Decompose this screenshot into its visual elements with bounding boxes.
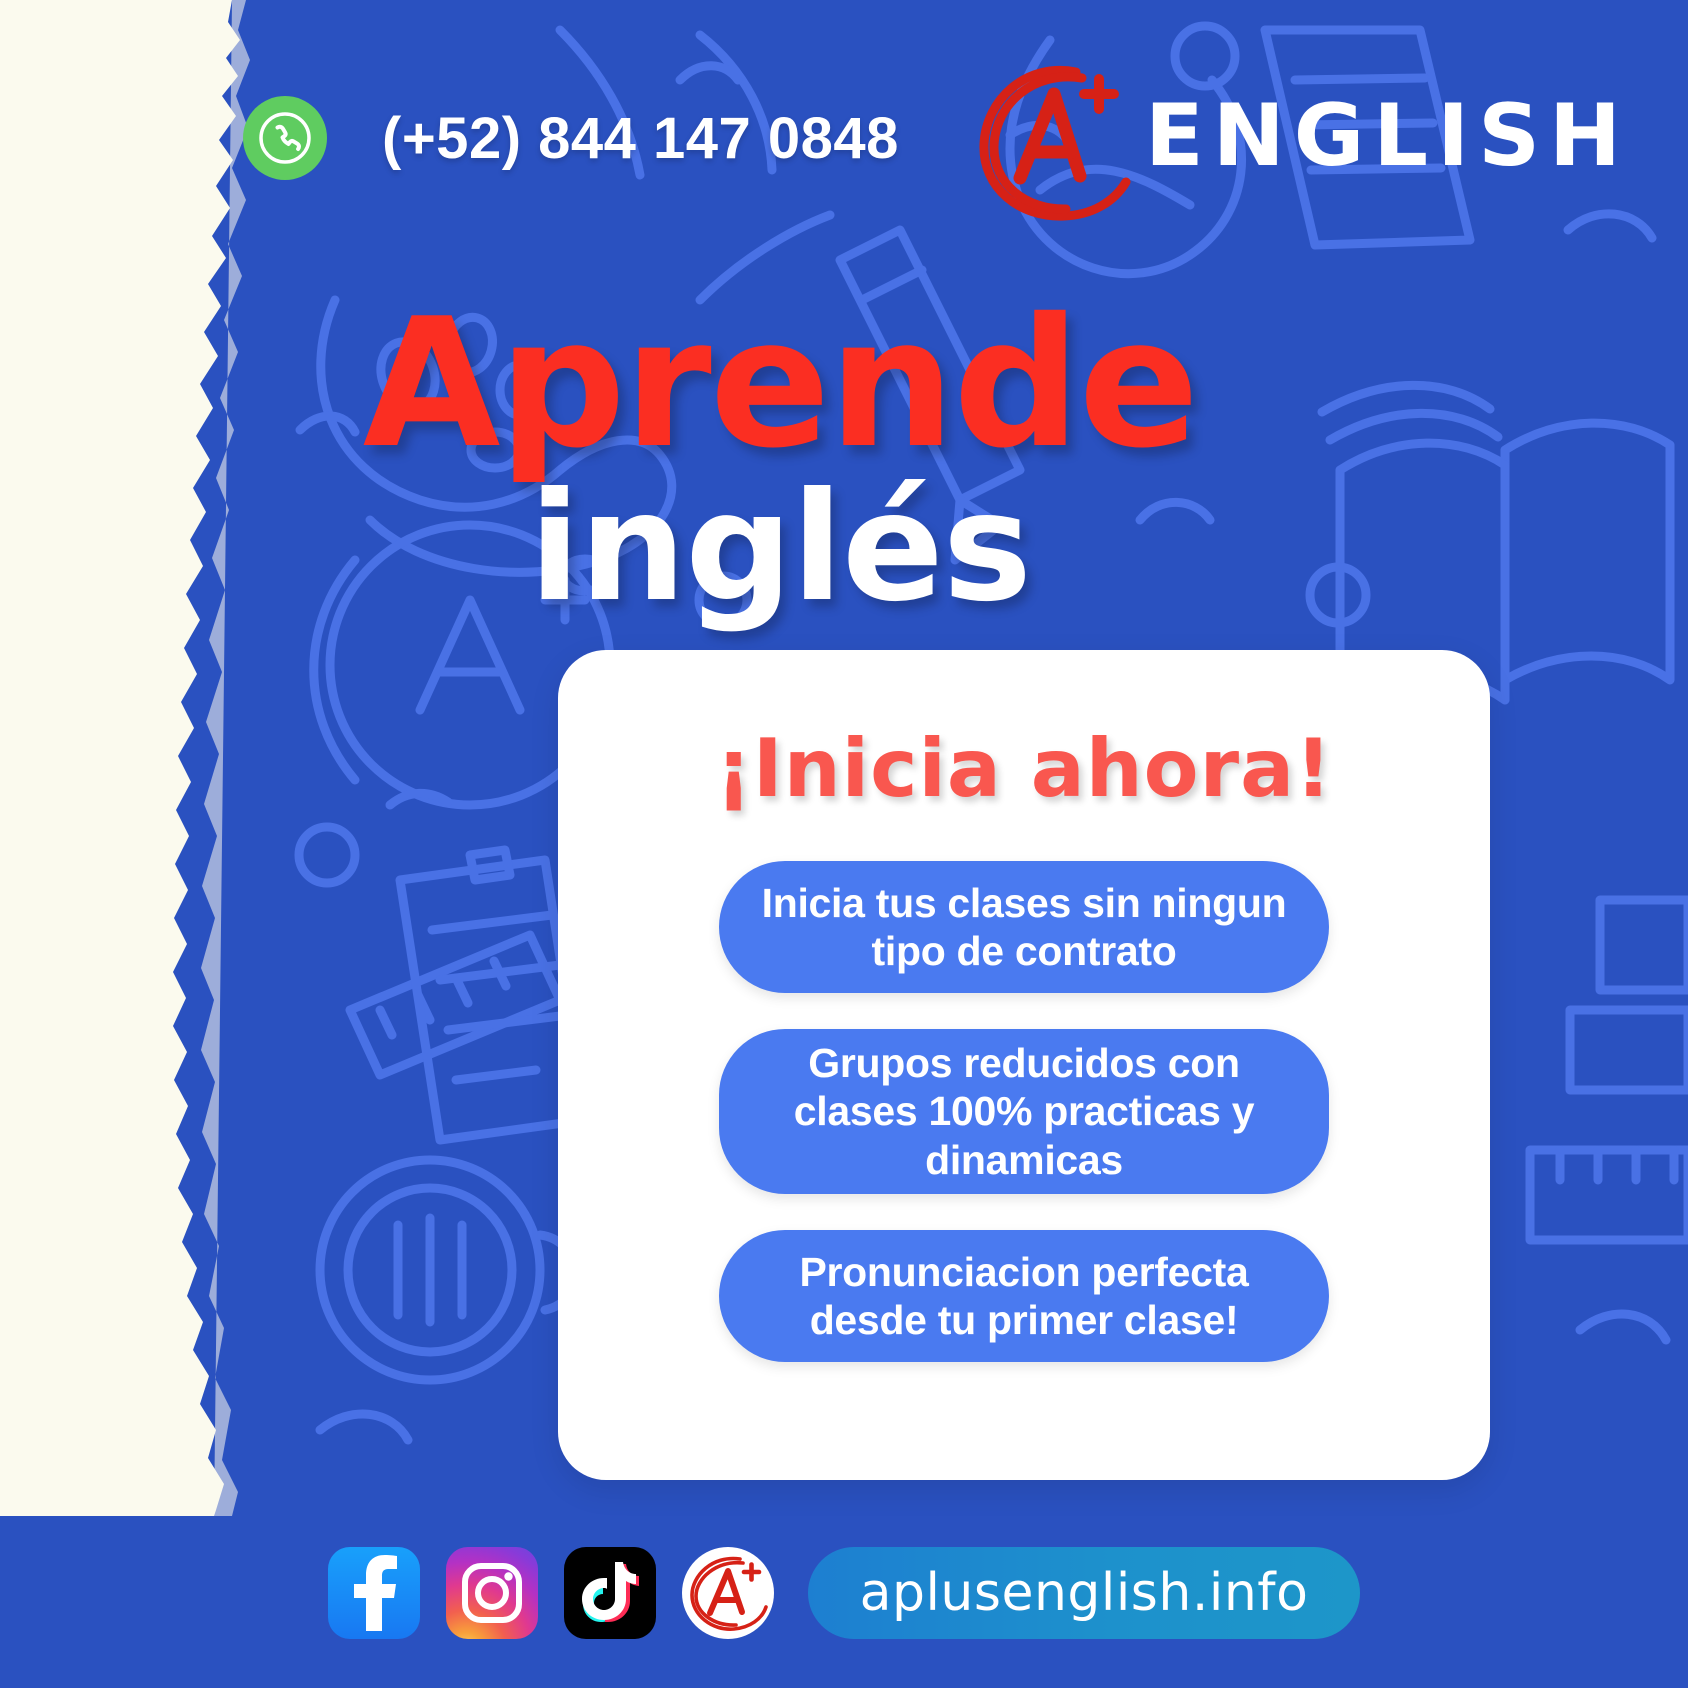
aplus-circle-icon [968, 52, 1143, 227]
benefit-pill[interactable]: Grupos reducidos con clases 100% practic… [719, 1029, 1329, 1194]
torn-paper-edge [0, 0, 330, 1516]
website-url-text: aplusenglish.info [860, 1563, 1309, 1623]
brand-logo: ENGLISH [968, 52, 1630, 227]
brand-name-text: ENGLISH [1145, 86, 1630, 186]
aplus-logo-icon[interactable] [682, 1547, 774, 1639]
instagram-icon[interactable] [446, 1547, 538, 1639]
contact-phone-row[interactable]: (+52) 844 147 0848 [243, 96, 899, 180]
footer-bar: aplusenglish.info [0, 1528, 1688, 1658]
offer-card: ¡Inicia ahora! Inicia tus clases sin nin… [558, 650, 1490, 1480]
website-url-pill[interactable]: aplusenglish.info [808, 1547, 1361, 1639]
facebook-icon[interactable] [328, 1547, 420, 1639]
phone-handset-icon [256, 109, 314, 167]
benefit-pill[interactable]: Inicia tus clases sin ningun tipo de con… [719, 861, 1329, 993]
benefit-pill[interactable]: Pronunciacion perfecta desde tu primer c… [719, 1230, 1329, 1362]
phone-icon-badge[interactable] [243, 96, 327, 180]
poster-canvas: (+52) 844 147 0848 ENGLISH A [0, 0, 1688, 1688]
benefit-pill-list: Inicia tus clases sin ningun tipo de con… [558, 861, 1490, 1362]
card-title: ¡Inicia ahora! [558, 722, 1490, 815]
phone-number-text: (+52) 844 147 0848 [382, 105, 899, 172]
tiktok-icon[interactable] [564, 1547, 656, 1639]
